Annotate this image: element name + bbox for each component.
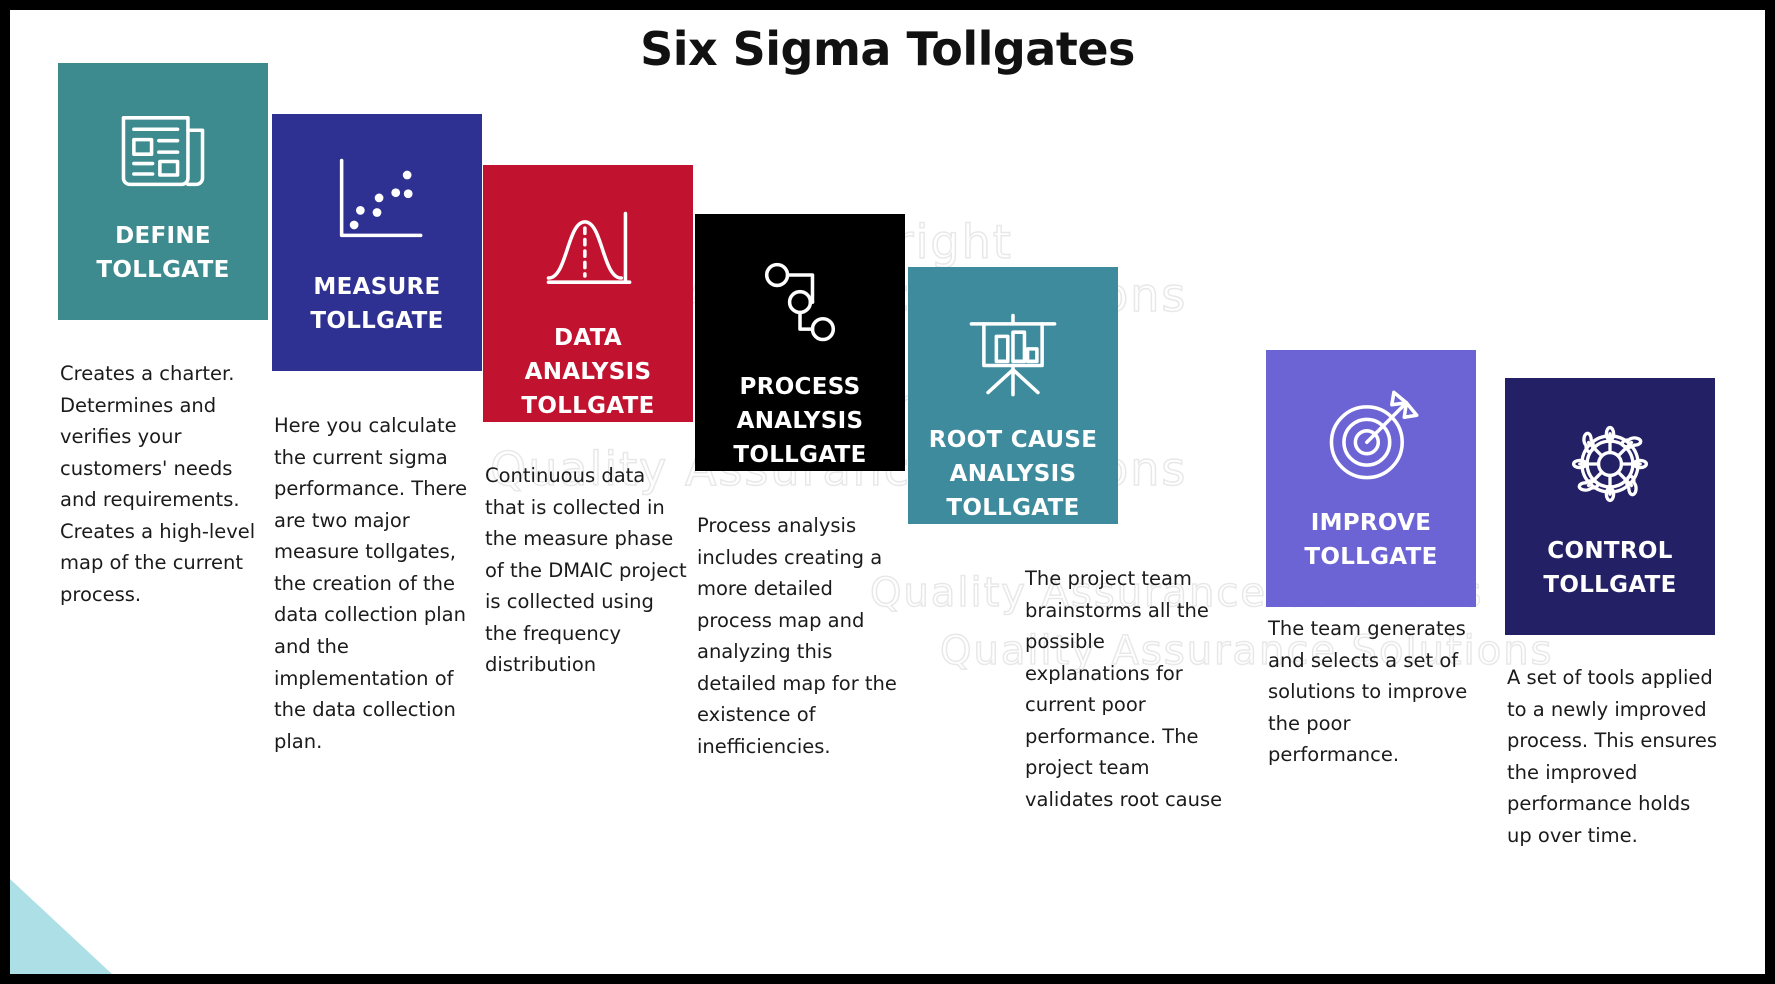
tollgate-data-analysis-description: Continuous data that is collected in the…	[485, 460, 687, 681]
title-line: IMPROVE	[1311, 510, 1432, 536]
tollgate-measure-card[interactable]: MEASURE TOLLGATE	[272, 114, 482, 371]
title-line: ANALYSIS	[950, 461, 1077, 487]
title-line: DEFINE	[115, 223, 211, 249]
tollgate-control-card[interactable]: CONTROL TOLLGATE	[1505, 378, 1715, 635]
tollgate-control-title: CONTROL TOLLGATE	[1505, 534, 1715, 602]
tollgate-data-analysis-title: DATA ANALYSIS TOLLGATE	[483, 321, 693, 422]
target-arrow-icon	[1319, 384, 1423, 488]
title-line: TOLLGATE	[733, 442, 866, 468]
bell-curve-icon	[536, 199, 640, 303]
title-line: PROCESS	[740, 374, 861, 400]
title-line: DATA	[554, 325, 622, 351]
tollgate-root-cause-analysis-card[interactable]: ROOT CAUSE ANALYSIS TOLLGATE	[908, 267, 1118, 524]
presentation-chart-icon	[961, 301, 1065, 405]
tollgate-define-title: DEFINE TOLLGATE	[58, 219, 268, 287]
tollgate-root-cause-analysis-title: ROOT CAUSE ANALYSIS TOLLGATE	[908, 423, 1118, 524]
tollgate-control-description: A set of tools applied to a newly improv…	[1507, 662, 1719, 851]
tollgate-measure-title: MEASURE TOLLGATE	[272, 270, 482, 338]
tollgate-data-analysis-card[interactable]: DATA ANALYSIS TOLLGATE	[483, 165, 693, 422]
tollgate-define-card[interactable]: DEFINE TOLLGATE	[58, 63, 268, 320]
slide-root: Copyright Quality Assurance Solutions Co…	[0, 0, 1775, 984]
tollgate-measure-description: Here you calculate the current sigma per…	[274, 410, 470, 757]
title-line: TOLLGATE	[310, 308, 443, 334]
page-title: Six Sigma Tollgates	[10, 22, 1765, 76]
tollgate-define-description: Creates a charter. Determines and verifi…	[60, 358, 260, 611]
slide-canvas: Copyright Quality Assurance Solutions Co…	[10, 10, 1765, 974]
tollgate-process-analysis-title: PROCESS ANALYSIS TOLLGATE	[695, 370, 905, 471]
title-line: TOLLGATE	[946, 495, 1079, 521]
scatter-plot-icon	[325, 148, 429, 252]
title-line: TOLLGATE	[1543, 572, 1676, 598]
title-line: MEASURE	[313, 274, 440, 300]
title-line: TOLLGATE	[521, 393, 654, 419]
title-line: CONTROL	[1547, 538, 1672, 564]
title-line: ANALYSIS	[737, 408, 864, 434]
tollgate-improve-card[interactable]: IMPROVE TOLLGATE	[1266, 350, 1476, 607]
tollgates-stage: DEFINE TOLLGATE Creates a charter. Deter…	[10, 10, 1765, 974]
title-line: TOLLGATE	[1304, 544, 1437, 570]
title-line: TOLLGATE	[96, 257, 229, 283]
tollgate-improve-description: The team generates and selects a set of …	[1268, 613, 1468, 771]
process-flow-icon	[748, 248, 852, 352]
ship-wheel-icon	[1558, 412, 1662, 516]
tollgate-root-cause-analysis-description: The project team brainstorms all the pos…	[1025, 563, 1223, 816]
tollgate-improve-title: IMPROVE TOLLGATE	[1266, 506, 1476, 574]
title-line: ANALYSIS	[525, 359, 652, 385]
tollgate-process-analysis-description: Process analysis includes creating a mor…	[697, 510, 907, 763]
tollgate-process-analysis-card[interactable]: PROCESS ANALYSIS TOLLGATE	[695, 214, 905, 471]
title-line: ROOT CAUSE	[929, 427, 1097, 453]
newspaper-icon	[111, 97, 215, 201]
